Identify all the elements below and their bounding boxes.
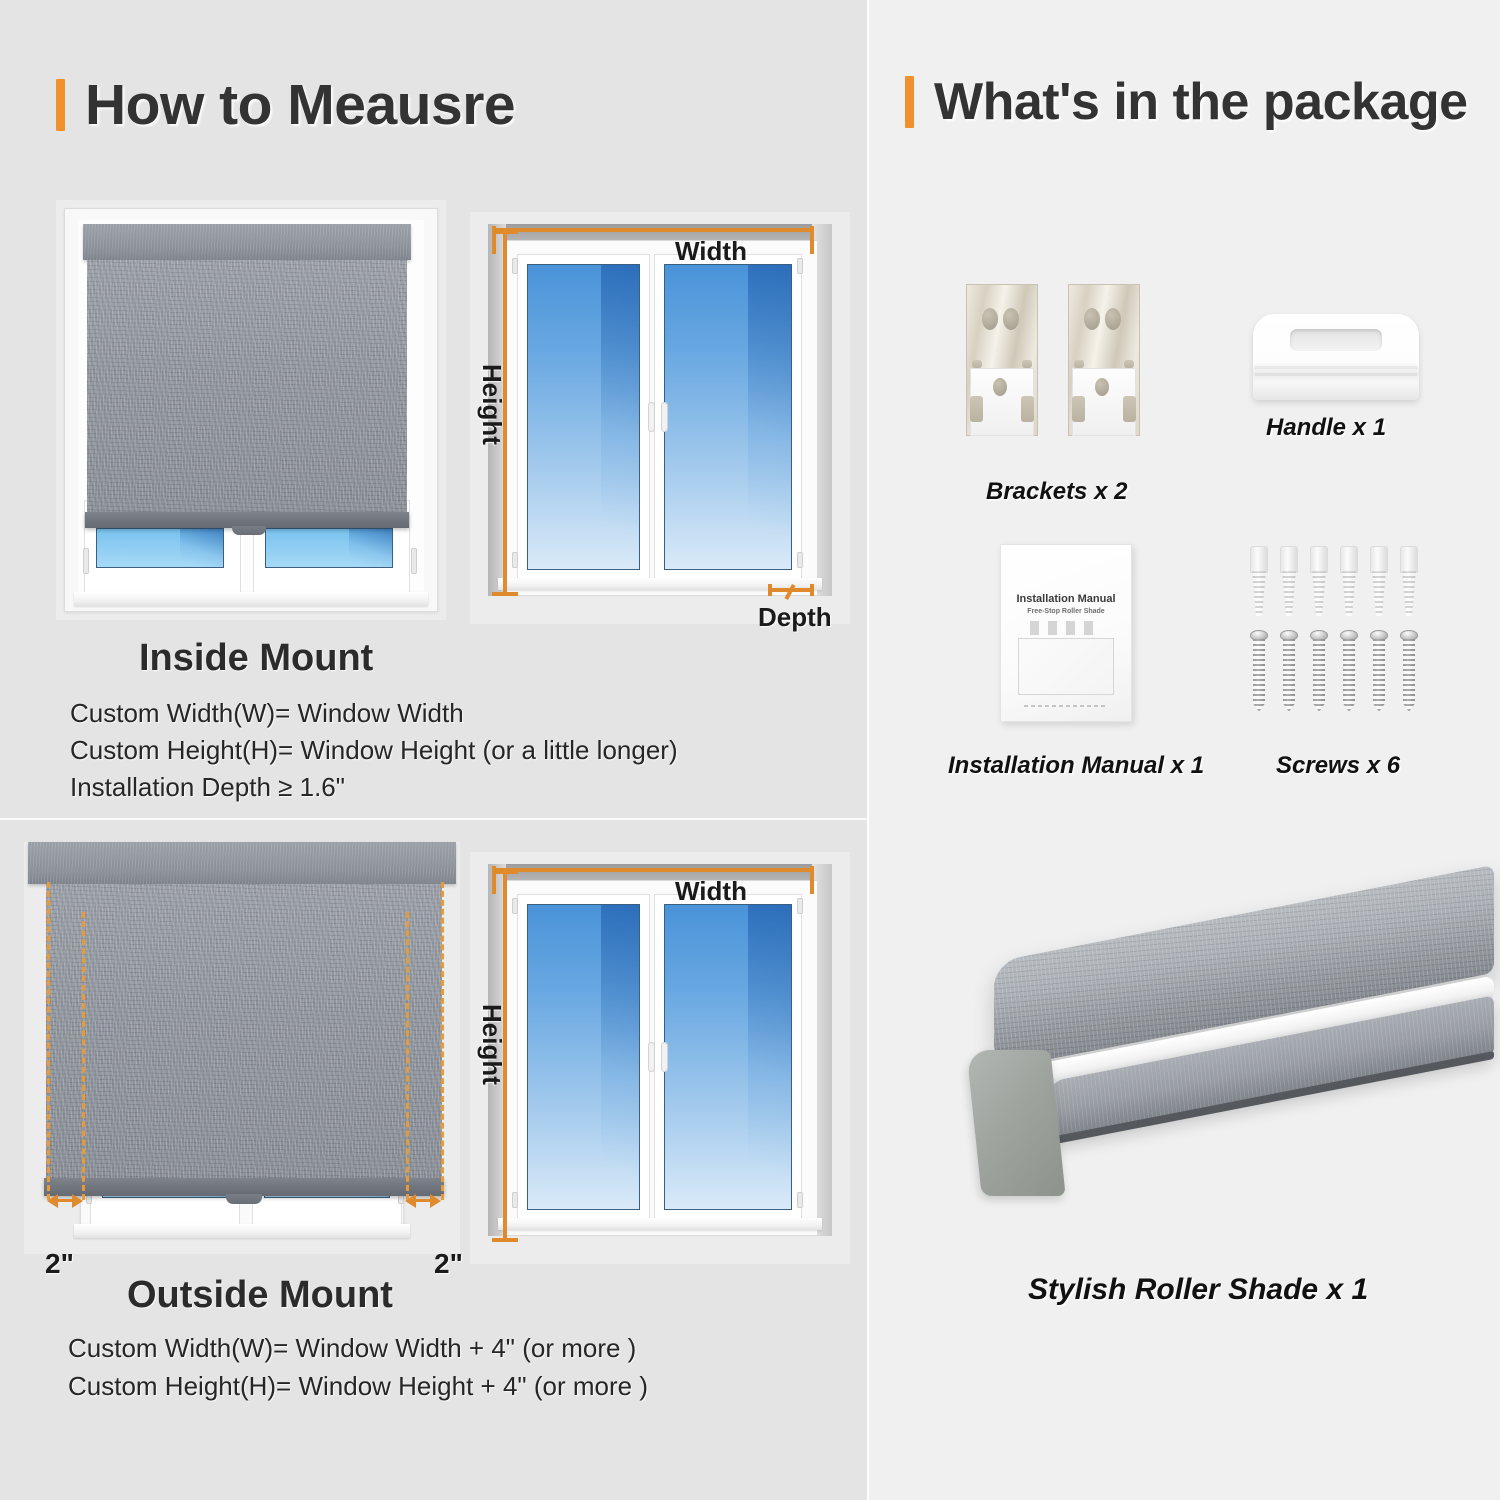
manual-cover-footer (1024, 705, 1107, 707)
roller-shade-label: Stylish Roller Shade x 1 (1028, 1273, 1368, 1307)
width-measure-line (492, 228, 814, 232)
manual-cover-image-box (1018, 638, 1114, 694)
inside-mount-line-1: Custom Width(W)= Window Width (70, 698, 464, 729)
shade-headrail (83, 224, 411, 260)
shade-pull-handle (226, 1194, 262, 1204)
height-label: Height (476, 364, 507, 445)
package-title: What's in the package (934, 72, 1468, 132)
overhang-right-dash-inner (406, 912, 409, 1200)
shade-pull-handle (232, 526, 266, 535)
manual-cover-icons (1030, 621, 1103, 635)
shade-headrail (28, 842, 456, 884)
outside-mount-line-1: Custom Width(W)= Window Width + 4" (or m… (68, 1333, 636, 1364)
manual-cover-title: Installation Manual (1001, 593, 1131, 605)
outside-mount-shade-illustration (24, 842, 460, 1254)
overhang-left-dash-outer (47, 882, 50, 1200)
outside-mount-measure-diagram: Width Height (470, 852, 850, 1264)
panel-divider-horizontal (0, 818, 867, 820)
outside-mount-line-2: Custom Height(H)= Window Height + 4" (or… (68, 1371, 648, 1402)
height-label: Height (476, 1004, 507, 1085)
handle-item (1253, 314, 1419, 400)
overhang-right-label: 2" (434, 1248, 463, 1280)
manual-cover-subtitle: Free-Stop Roller Shade (1001, 608, 1131, 615)
infographic-page: How to Meausre What's in the package (0, 0, 1500, 1500)
width-label: Width (675, 876, 747, 907)
overhang-left-dash-inner (82, 912, 85, 1200)
overhang-right-dash-outer (441, 882, 444, 1200)
depth-label: Depth (758, 602, 832, 633)
width-label: Width (675, 236, 747, 267)
shade-fabric (46, 884, 442, 1182)
roller-shade-end-cap (966, 1050, 1065, 1196)
inside-mount-shade-illustration (56, 200, 446, 620)
installation-manual-item: Installation Manual Free-Stop Roller Sha… (1000, 544, 1132, 722)
brackets-label: Brackets x 2 (986, 478, 1127, 506)
how-to-measure-heading: How to Meausre (56, 72, 515, 138)
inside-mount-measure-diagram: Width Height Depth (470, 212, 850, 624)
width-measure-line (492, 868, 814, 872)
accent-bar-icon (56, 79, 65, 131)
bracket-item-1 (966, 284, 1038, 436)
accent-bar-icon (905, 76, 914, 128)
screws-item (1248, 546, 1428, 722)
screws-label: Screws x 6 (1276, 752, 1400, 780)
inside-mount-line-3: Installation Depth ≥ 1.6" (70, 772, 345, 803)
manual-label: Installation Manual x 1 (948, 752, 1204, 780)
overhang-left-label: 2" (45, 1248, 74, 1280)
handle-label: Handle x 1 (1266, 414, 1386, 442)
shade-fabric (87, 260, 407, 522)
how-to-measure-title: How to Meausre (85, 72, 515, 138)
roller-shade-product-image (960, 900, 1488, 1250)
inside-mount-line-2: Custom Height(H)= Window Height (or a li… (70, 735, 678, 766)
panel-divider-vertical (867, 0, 869, 1500)
package-heading: What's in the package (905, 72, 1468, 132)
outside-mount-title: Outside Mount (127, 1274, 393, 1317)
inside-mount-title: Inside Mount (139, 637, 373, 680)
bracket-item-2 (1068, 284, 1140, 436)
handle-grip-slot (1290, 329, 1383, 351)
